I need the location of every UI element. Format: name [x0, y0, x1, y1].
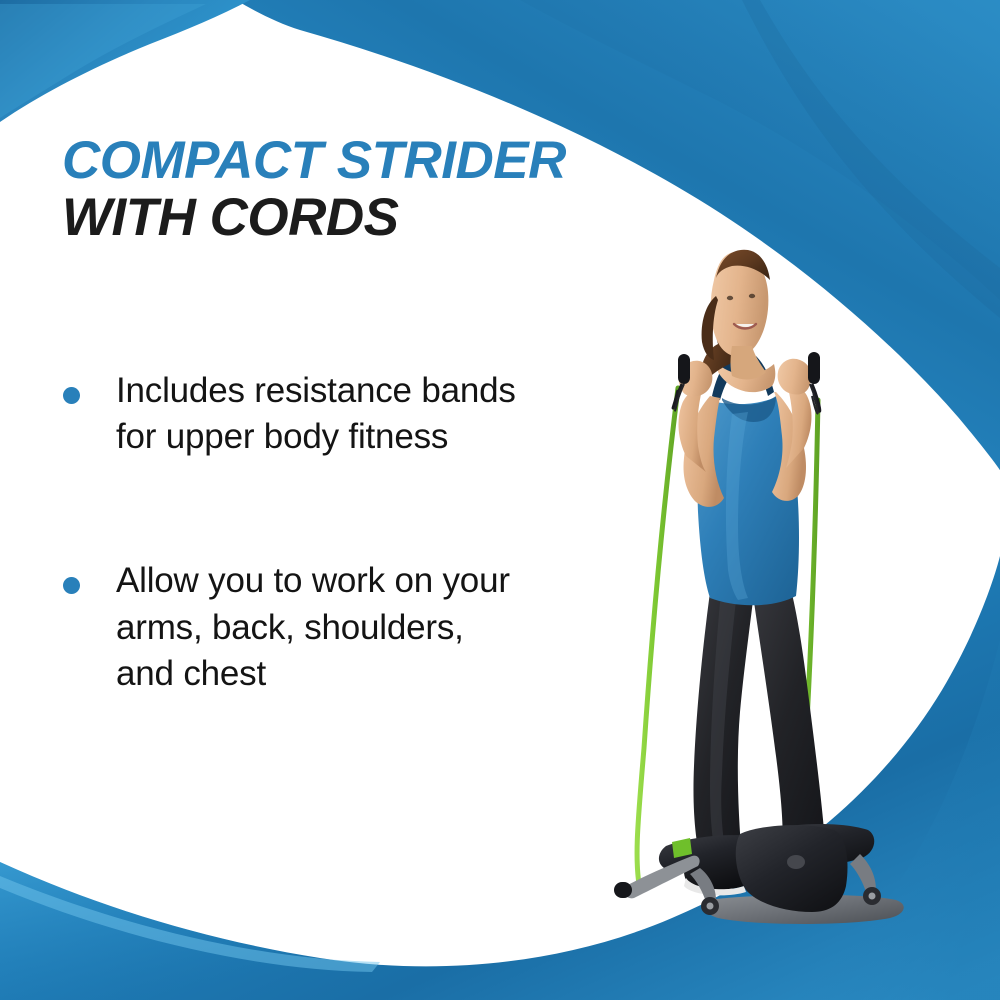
list-item: Includes resistance bands for upper body… — [58, 368, 528, 460]
fist-right — [778, 359, 812, 395]
feature-list: Includes resistance bands for upper body… — [58, 368, 528, 697]
machine-pivot-bolt — [787, 855, 805, 869]
leg-front — [752, 586, 826, 859]
stepper-machine — [614, 824, 904, 924]
machine-wheel-left-hub — [707, 903, 714, 910]
title-line-primary: COMPACT STRIDER — [62, 132, 702, 189]
bullet-dot-icon — [63, 387, 80, 404]
list-item: Allow you to work on your arms, back, sh… — [58, 558, 528, 697]
bullet-dot-icon — [63, 577, 80, 594]
infographic-canvas: COMPACT STRIDER WITH CORDS Includes resi… — [0, 0, 1000, 1000]
machine-wheel-right-hub — [869, 893, 876, 900]
hydraulic-cylinder-cap — [614, 882, 632, 898]
list-item-label: Allow you to work on your arms, back, sh… — [116, 561, 510, 692]
product-photo — [560, 200, 1000, 930]
resistance-cord-left — [637, 388, 678, 890]
list-item-label: Includes resistance bands for upper body… — [116, 371, 516, 456]
